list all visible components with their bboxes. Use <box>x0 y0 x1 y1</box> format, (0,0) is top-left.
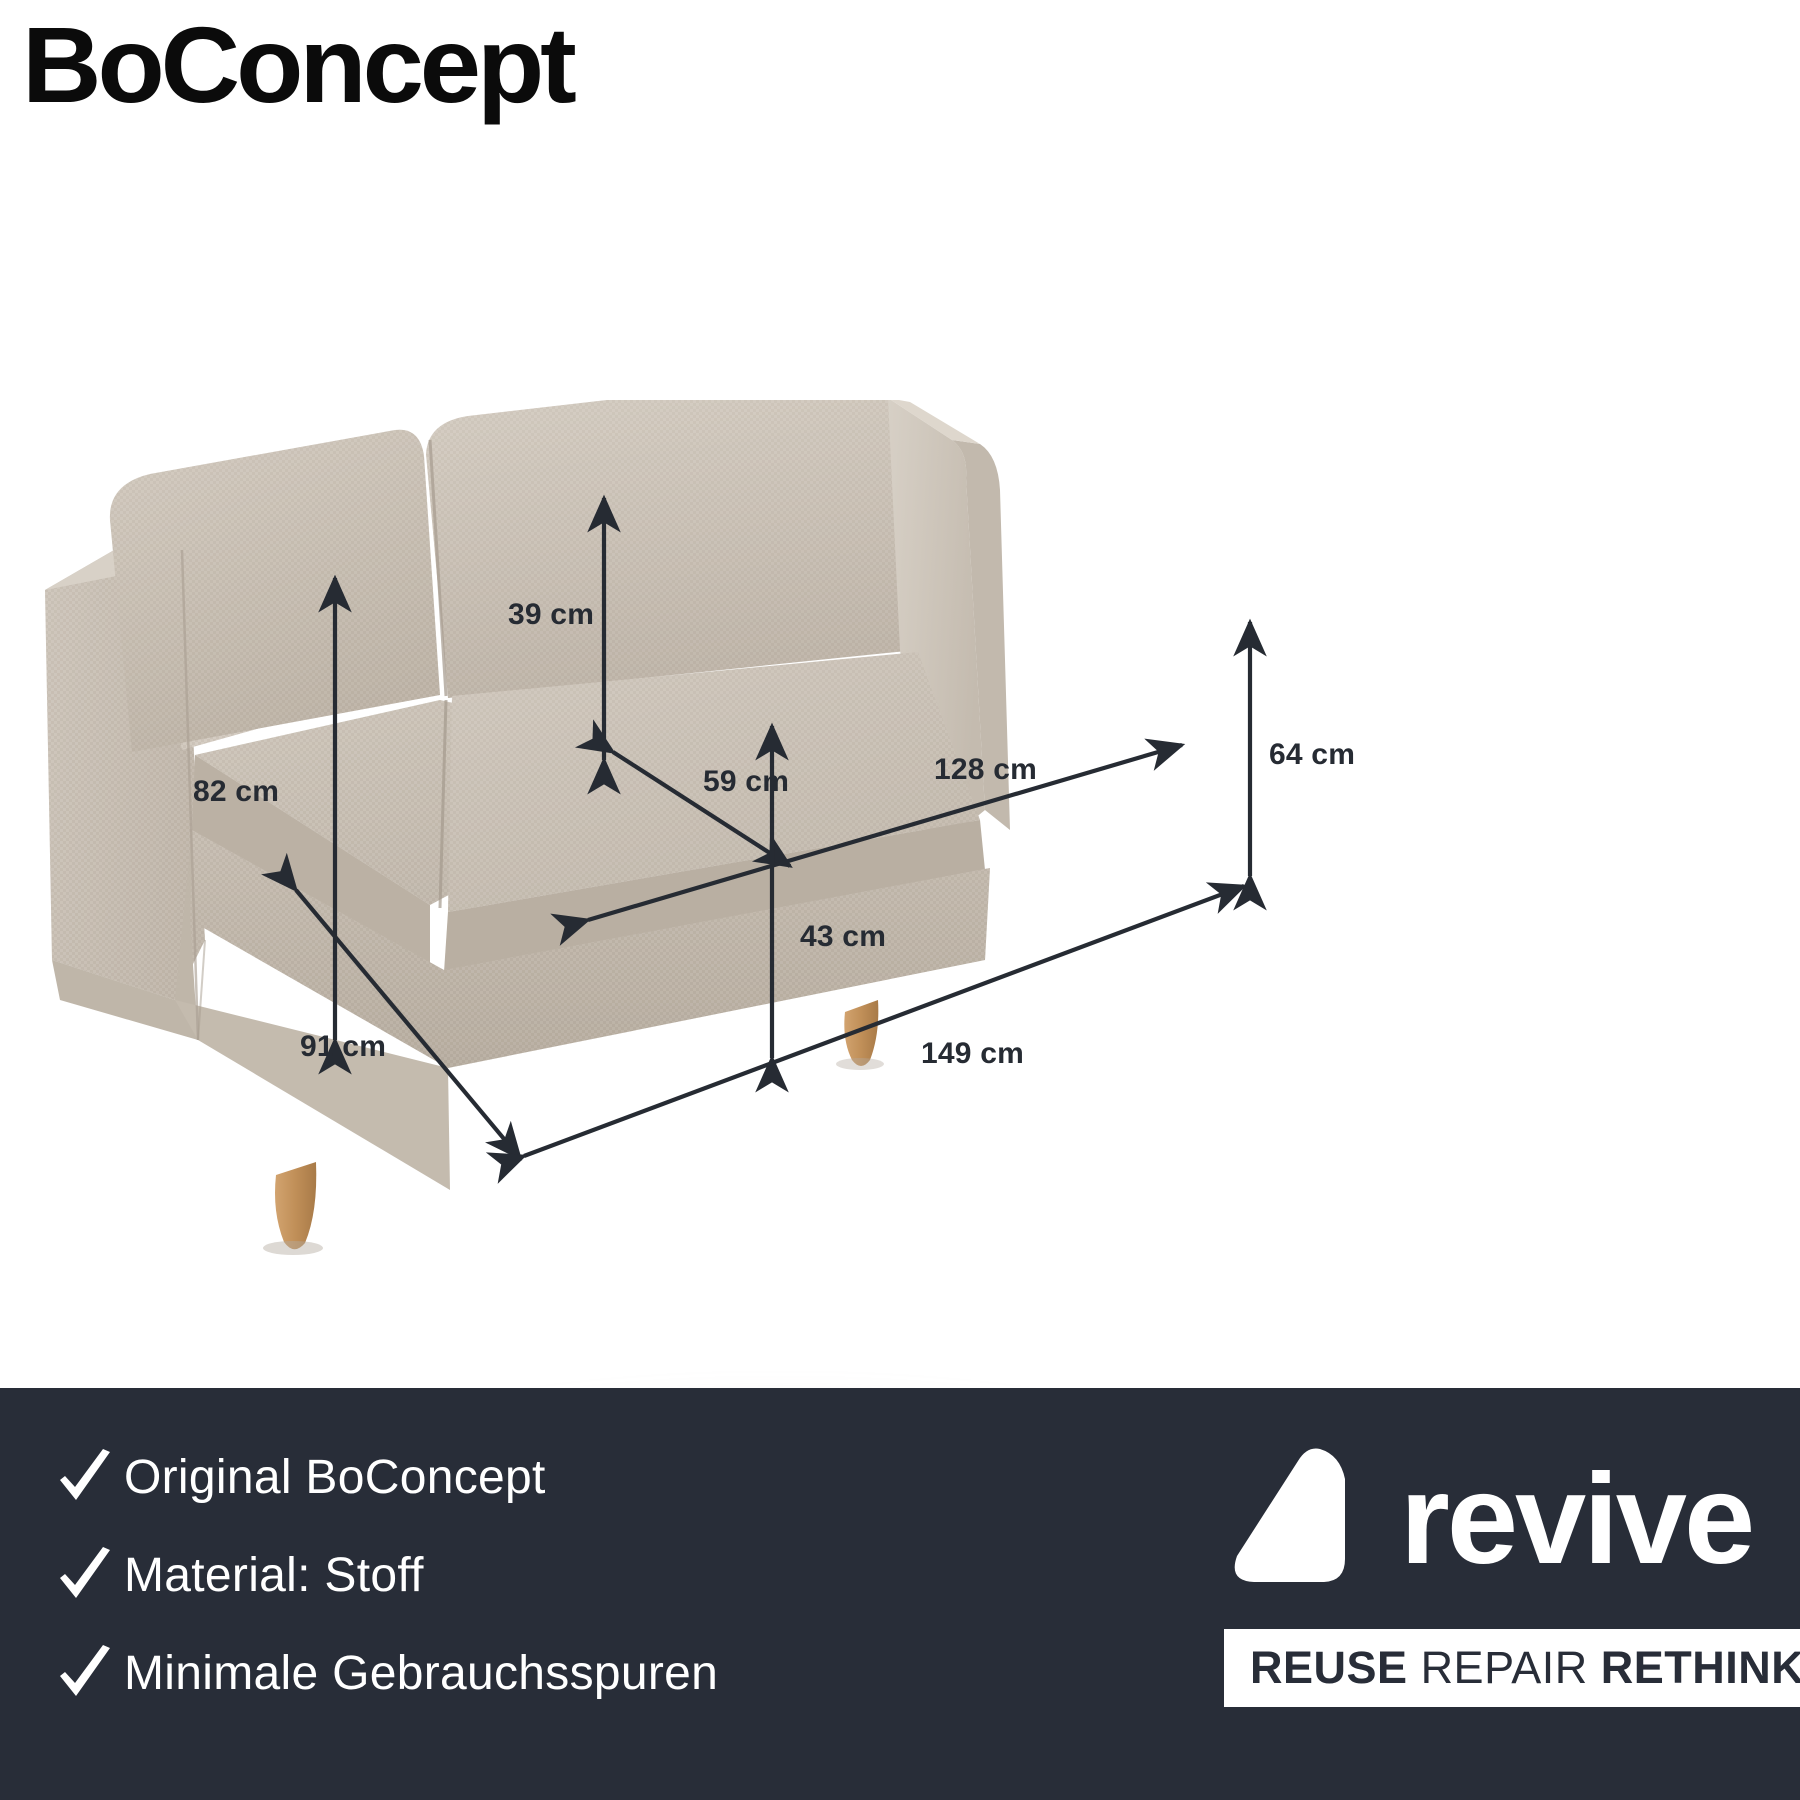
check-icon <box>46 1643 124 1703</box>
feature-list: Original BoConcept Material: Stoff Minim… <box>46 1428 986 1722</box>
check-icon <box>46 1545 124 1605</box>
feature-item: Material: Stoff <box>46 1526 986 1624</box>
dim-label-backrest-height: 39 cm <box>508 598 594 632</box>
tagline-word-reuse: REUSE <box>1250 1642 1408 1693</box>
check-icon <box>46 1447 124 1507</box>
feature-item: Original BoConcept <box>46 1428 986 1526</box>
feature-label: Material: Stoff <box>124 1548 424 1603</box>
revive-logo-top: revive <box>1128 1432 1748 1607</box>
info-banner: Original BoConcept Material: Stoff Minim… <box>0 1388 1800 1800</box>
sofa-leg-right <box>844 1000 878 1066</box>
revive-tagline-tag: REUSE REPAIR RETHINK <box>1224 1629 1800 1707</box>
sofa-illustration <box>0 400 1800 1300</box>
revive-wordmark: revive <box>1400 1456 1752 1584</box>
tagline-word-repair: REPAIR <box>1421 1642 1588 1693</box>
dim-label-seat-height: 43 cm <box>800 920 886 954</box>
boconcept-logo: BoConcept <box>22 6 573 125</box>
product-photo <box>0 400 1800 1300</box>
revive-logo: revive REUSE REPAIR RETHINK <box>1128 1432 1748 1707</box>
dim-label-seat-width: 128 cm <box>934 753 1037 787</box>
dim-label-seat-depth: 59 cm <box>703 765 789 799</box>
feature-label: Minimale Gebrauchsspuren <box>124 1646 718 1701</box>
revive-triangle-icon <box>1224 1441 1374 1598</box>
feature-label: Original BoConcept <box>124 1450 546 1505</box>
dim-label-total-width: 149 cm <box>921 1037 1024 1071</box>
product-listing-image: BoConcept <box>0 0 1800 1800</box>
dim-label-armrest-height: 64 cm <box>1269 738 1355 772</box>
sofa-leg-front-left <box>275 1162 316 1249</box>
tagline-word-rethink: RETHINK <box>1601 1642 1800 1693</box>
dim-label-total-depth: 91 cm <box>300 1030 386 1064</box>
dim-label-total-height: 82 cm <box>193 775 279 809</box>
feature-item: Minimale Gebrauchsspuren <box>46 1624 986 1722</box>
